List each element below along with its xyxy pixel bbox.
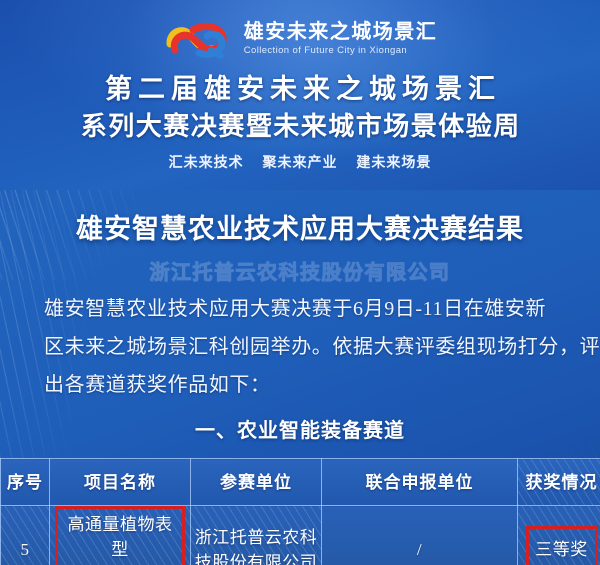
cell-unit-line-1: 浙江托普云农科 [195,528,318,547]
cell-seq: 5 [1,506,50,565]
cell-project-name: 高通量植物表型 采集分析平台 [50,506,191,565]
table-header-row: 序号 项目名称 参赛单位 联合申报单位 获奖情况 [1,459,600,506]
results-announcement-page: 雄安未来之城场景汇 Collection of Future City in X… [0,0,600,565]
column-header-seq: 序号 [1,459,50,506]
page-title: 雄安智慧农业技术应用大赛决赛结果 [0,207,600,246]
company-watermark: 浙江托普云农科技股份有限公司 [0,256,600,285]
cell-participating-unit-value: 浙江托普云农科 技股份有限公司 [195,528,318,565]
cell-project-name-line-1: 高通量植物表型 [68,515,173,559]
cell-joint-unit-value: / [417,540,422,559]
brand-lockup: 雄安未来之城场景汇 Collection of Future City in X… [0,18,600,60]
table-row: 5 高通量植物表型 采集分析平台 浙江托普云农科 技股份有限公司 [1,506,600,565]
banner-title-line-2: 系列大赛决赛暨未来城市场景体验周 [0,109,600,143]
body-line-3: 出各赛道获奖作品如下： [44,366,560,404]
brand-text: 雄安未来之城场景汇 Collection of Future City in X… [244,22,438,56]
column-header-joint-unit: 联合申报单位 [322,459,518,506]
column-header-award-label: 获奖情况 [526,473,598,492]
column-header-project-name-label: 项目名称 [84,473,156,492]
column-header-participating-unit: 参赛单位 [191,459,322,506]
column-header-participating-unit-label: 参赛单位 [220,473,292,492]
column-header-seq-label: 序号 [7,473,43,492]
brand-name-cn: 雄安未来之城场景汇 [244,22,438,42]
event-banner: 雄安未来之城场景汇 Collection of Future City in X… [0,0,600,190]
slogan-3: 建未来场景 [356,154,431,170]
column-header-award: 获奖情况 [518,459,600,506]
brand-name-en: Collection of Future City in Xiongan [244,46,438,56]
banner-slogans: 汇未来技术 聚未来产业 建未来场景 [0,152,600,172]
cell-award-value: 三等奖 [535,540,588,559]
section-heading: 一、农业智能装备赛道 [0,414,600,443]
cell-award: 三等奖 [518,506,600,565]
highlight-box-project-name: 高通量植物表型 采集分析平台 [55,506,185,565]
body-line-2: 区未来之城场景汇科创园举办。依据大赛评委组现场打分，评 [44,328,560,366]
results-table: 序号 项目名称 参赛单位 联合申报单位 获奖情况 [0,458,600,565]
cell-joint-unit: / [322,506,518,565]
cell-seq-value: 5 [21,540,30,559]
highlight-box-award: 三等奖 [526,526,598,565]
xiongan-infinity-ribbon-logo-icon [163,18,235,60]
slogan-2: 聚未来产业 [263,154,338,170]
column-header-project-name: 项目名称 [50,459,191,506]
body-line-1: 雄安智慧农业技术应用大赛决赛于6月9日-11日在雄安新 [44,290,560,328]
cell-unit-line-2: 技股份有限公司 [195,553,318,565]
column-header-joint-unit-label: 联合申报单位 [366,473,474,492]
cell-participating-unit: 浙江托普云农科 技股份有限公司 [191,506,322,565]
banner-title: 第二届雄安未来之城场景汇 系列大赛决赛暨未来城市场景体验周 [0,72,600,143]
slogan-1: 汇未来技术 [169,154,244,170]
banner-title-line-1: 第二届雄安未来之城场景汇 [0,72,600,106]
announcement-body: 雄安智慧农业技术应用大赛决赛于6月9日-11日在雄安新 区未来之城场景汇科创园举… [44,290,560,404]
